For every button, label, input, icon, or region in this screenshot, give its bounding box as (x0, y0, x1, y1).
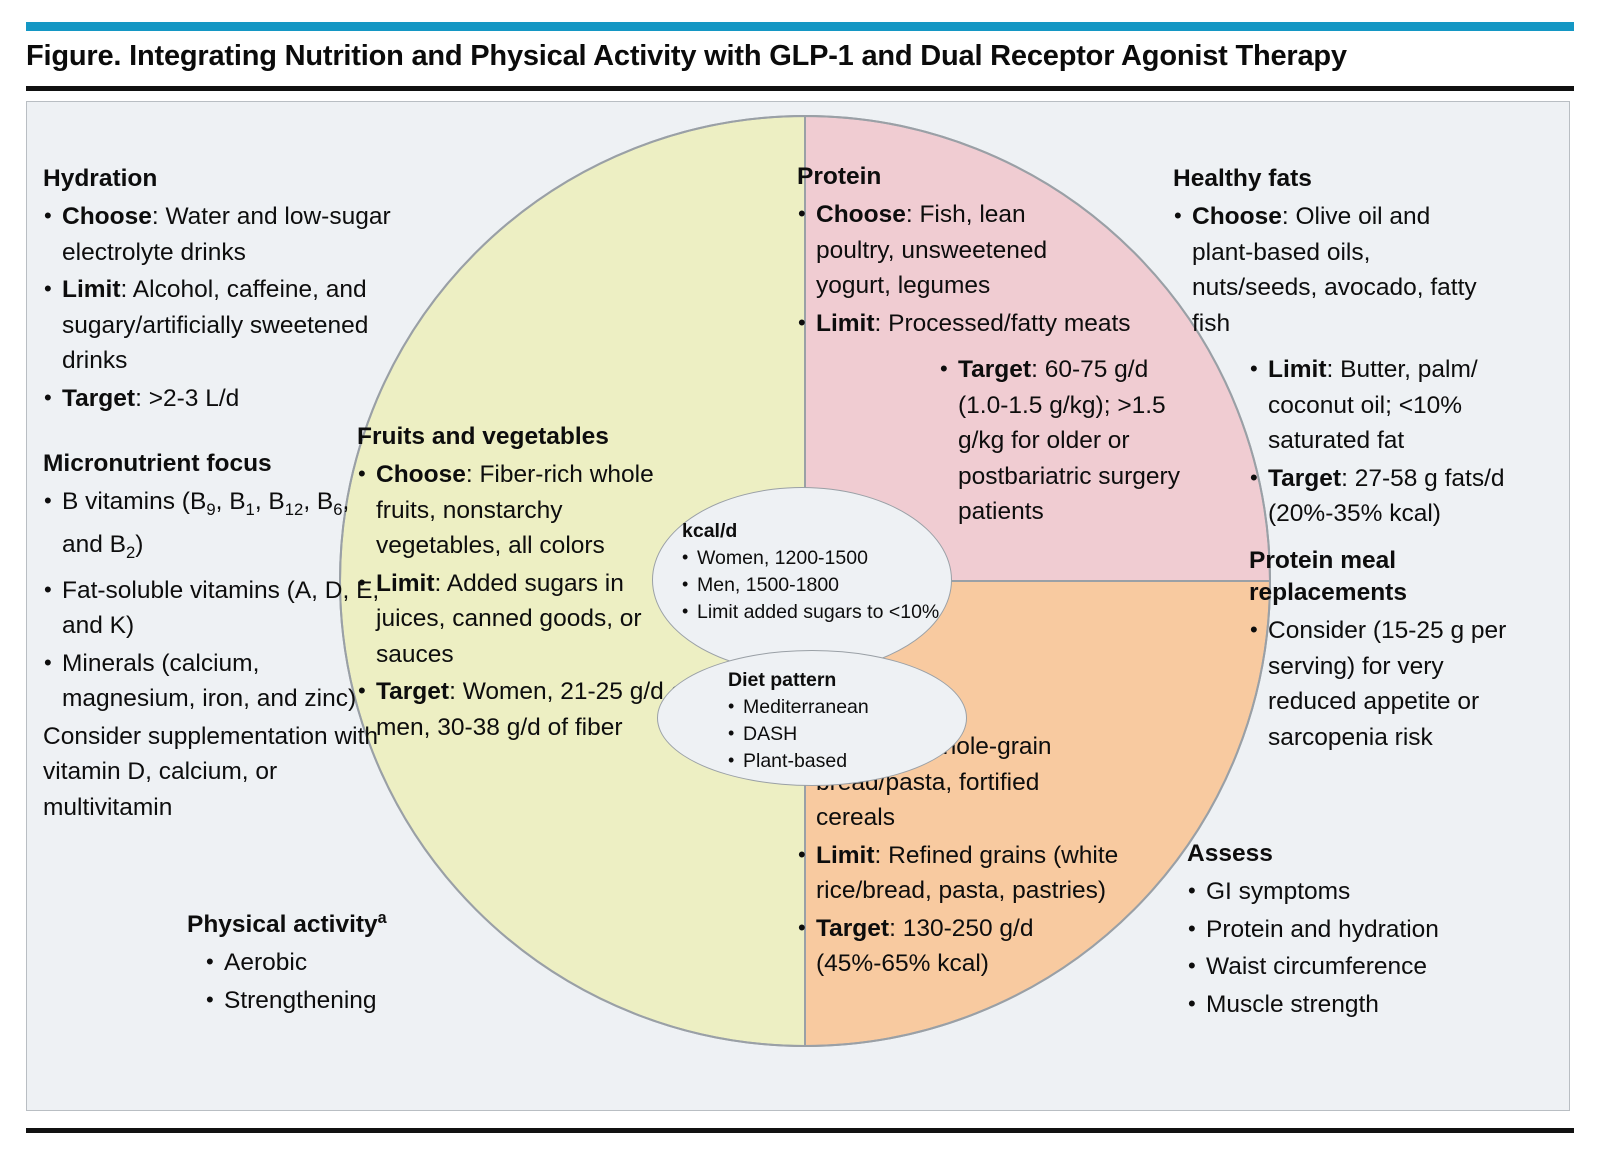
physical-activity-label: Physical activity (187, 911, 378, 938)
item-lead: Target (62, 385, 135, 412)
list-item: Limit: Alcohol, caffeine, and sugary/art… (43, 272, 415, 379)
list-item: Limit added sugars to <10% (682, 599, 950, 626)
item-lead: Choose (62, 203, 152, 230)
list-item: Choose: Fiber-rich whole fruits, nonstar… (357, 457, 671, 564)
item-lead: Limit (62, 276, 121, 303)
list-item: Women, 1200-1500 (682, 545, 950, 572)
kcal-heading: kcal/d (682, 518, 950, 545)
item-lead: Target (958, 356, 1031, 383)
item-text: Minerals (calcium, magnesium, iron, and … (62, 650, 356, 713)
hydration-block: Hydration Choose: Water and low-sugar el… (43, 162, 415, 418)
item-lead: Target (816, 915, 889, 942)
list-item: Target: >2-3 L/d (43, 381, 415, 417)
item-lead: Choose (376, 461, 466, 488)
list-item: GI symptoms (1187, 874, 1517, 910)
list-item: Target: 27-58 g fats/d (20%-35% kcal) (1249, 461, 1553, 532)
item-colon: : (1031, 356, 1045, 383)
assess-list: GI symptoms Protein and hydration Waist … (1187, 874, 1517, 1022)
pmr-heading: Protein meal replacements (1249, 545, 1519, 609)
item-colon: : (1327, 356, 1341, 383)
list-item: Target: 60-75 g/d (1.0-1.5 g/kg); >1.5 g… (939, 352, 1194, 530)
healthy-fats-heading: Healthy fats (1173, 162, 1493, 195)
item-colon: : (152, 203, 166, 230)
figure-panel: Hydration Choose: Water and low-sugar el… (26, 101, 1570, 1111)
item-colon: : (889, 915, 903, 942)
item-colon: : (466, 461, 480, 488)
item-text: Limit added sugars to <10% (697, 601, 939, 623)
list-item: Fat-soluble vitamins (A, D, E, and K) (43, 573, 383, 644)
list-item: Limit: Refined grains (white rice/bread,… (797, 838, 1171, 909)
bottom-divider (26, 1128, 1574, 1133)
item-lead: Choose (816, 201, 906, 228)
healthy-fats-block: Healthy fats Choose: Olive oil and plant… (1173, 162, 1493, 343)
hydration-list: Choose: Water and low-sugar electrolyte … (43, 199, 415, 416)
list-item: B vitamins (B9, B1, B12, B6, and B2) (43, 484, 383, 571)
item-text: Aerobic (224, 949, 307, 976)
list-item: DASH (728, 721, 968, 748)
item-lead: Choose (1192, 203, 1282, 230)
micronutrient-footer: Consider supplementation with vitamin D,… (43, 719, 383, 826)
list-item: Mediterranean (728, 694, 968, 721)
item-lead: Limit (376, 570, 435, 597)
diet-pattern-heading: Diet pattern (728, 667, 968, 694)
diet-pattern-list: Mediterranean DASH Plant-based (728, 694, 968, 775)
physical-activity-heading: Physical activitya (187, 902, 467, 941)
item-colon: : (135, 385, 149, 412)
list-item: Waist circumference (1187, 949, 1517, 985)
item-text: Processed/fatty meats (888, 310, 1130, 337)
item-text: Strengthening (224, 987, 377, 1014)
item-colon: : (449, 678, 463, 705)
item-colon: : (906, 201, 920, 228)
physical-activity-list: Aerobic Strengthening (205, 945, 467, 1018)
item-colon: : (875, 842, 889, 869)
item-colon: : (875, 310, 889, 337)
list-item: Minerals (calcium, magnesium, iron, and … (43, 646, 383, 717)
item-colon: : (1341, 465, 1355, 492)
healthy-fats-indented-block: Limit: Butter, palm/ coconut oil; <10% s… (1249, 352, 1539, 534)
kcal-list: Women, 1200-1500 Men, 1500-1800 Limit ad… (682, 545, 950, 626)
list-item: Muscle strength (1187, 987, 1517, 1023)
kcal-ellipse: kcal/d Women, 1200-1500 Men, 1500-1800 L… (652, 487, 952, 673)
diet-pattern-content: Diet pattern Mediterranean DASH Plant-ba… (728, 667, 968, 775)
item-lead: Target (376, 678, 449, 705)
list-item: Limit: Butter, palm/ coconut oil; <10% s… (1249, 352, 1513, 459)
list-item: Choose: Water and low-sugar electrolyte … (43, 199, 415, 270)
item-text: Plant-based (743, 750, 847, 772)
item-lead: Limit (816, 310, 875, 337)
item-text: Consider (15-25 g per serving) for very … (1268, 617, 1506, 751)
footnote-marker: a (378, 909, 387, 927)
item-text: Protein and hydration (1206, 916, 1439, 943)
protein-target-block: Target: 60-75 g/d (1.0-1.5 g/kg); >1.5 g… (939, 352, 1194, 532)
list-item: Plant-based (728, 748, 968, 775)
protein-heading: Protein (797, 160, 1177, 193)
micronutrient-list: B vitamins (B9, B1, B12, B6, and B2) Fat… (43, 484, 383, 717)
item-colon: : (1282, 203, 1296, 230)
list-item: Choose: Fish, lean poultry, unsweetened … (797, 197, 1101, 304)
list-item: Aerobic (205, 945, 467, 981)
item-text: B vitamins (B9, B1, B12, B6, and B2) (62, 488, 349, 558)
protein-block: Protein Choose: Fish, lean poultry, unsw… (797, 160, 1177, 343)
list-item: Consider (15-25 g per serving) for very … (1249, 613, 1519, 755)
fruits-heading: Fruits and vegetables (357, 420, 757, 453)
pmr-list: Consider (15-25 g per serving) for very … (1249, 613, 1519, 755)
hydration-heading: Hydration (43, 162, 415, 195)
item-text: >2-3 L/d (149, 385, 240, 412)
item-colon: : (435, 570, 447, 597)
item-text: Men, 1500-1800 (697, 574, 839, 596)
assess-block: Assess GI symptoms Protein and hydration… (1187, 837, 1517, 1024)
item-text: Mediterranean (743, 696, 869, 718)
item-text: DASH (743, 723, 797, 745)
figure-title: Figure. Integrating Nutrition and Physic… (26, 40, 1574, 73)
micronutrient-block: Micronutrient focus B vitamins (B9, B1, … (43, 447, 383, 825)
item-text: Waist circumference (1206, 953, 1427, 980)
item-text: Women, 1200-1500 (697, 547, 868, 569)
kcal-content: kcal/d Women, 1200-1500 Men, 1500-1800 L… (682, 518, 950, 626)
list-item: Men, 1500-1800 (682, 572, 950, 599)
item-colon: : (121, 276, 133, 303)
title-divider (26, 86, 1574, 91)
physical-activity-block: Physical activitya Aerobic Strengthening (187, 902, 467, 1020)
item-lead: Limit (1268, 356, 1327, 383)
healthy-fats-list: Choose: Olive oil and plant-based oils, … (1173, 199, 1493, 341)
protein-list: Choose: Fish, lean poultry, unsweetened … (797, 197, 1177, 341)
assess-heading: Assess (1187, 837, 1517, 870)
accent-rule (26, 22, 1574, 31)
diet-pattern-ellipse: Diet pattern Mediterranean DASH Plant-ba… (657, 650, 967, 786)
item-text: GI symptoms (1206, 878, 1350, 905)
item-lead: Limit (816, 842, 875, 869)
protein-target-list: Target: 60-75 g/d (1.0-1.5 g/kg); >1.5 g… (939, 352, 1194, 530)
protein-meal-replacements-block: Protein meal replacements Consider (15-2… (1249, 545, 1519, 757)
micronutrient-heading: Micronutrient focus (43, 447, 383, 480)
item-text: Fat-soluble vitamins (A, D, E, and K) (62, 577, 379, 640)
list-item: Protein and hydration (1187, 912, 1517, 948)
healthy-fats-indented-list: Limit: Butter, palm/ coconut oil; <10% s… (1249, 352, 1539, 532)
list-item: Limit: Added sugars in juices, canned go… (357, 566, 646, 673)
list-item: Choose: Olive oil and plant-based oils, … (1173, 199, 1487, 341)
item-lead: Target (1268, 465, 1341, 492)
item-text: Muscle strength (1206, 991, 1379, 1018)
list-item: Strengthening (205, 983, 467, 1019)
list-item: Limit: Processed/fatty meats (797, 306, 1186, 342)
list-item: Target: 130-250 g/d (45%-65% kcal) (797, 911, 1061, 982)
